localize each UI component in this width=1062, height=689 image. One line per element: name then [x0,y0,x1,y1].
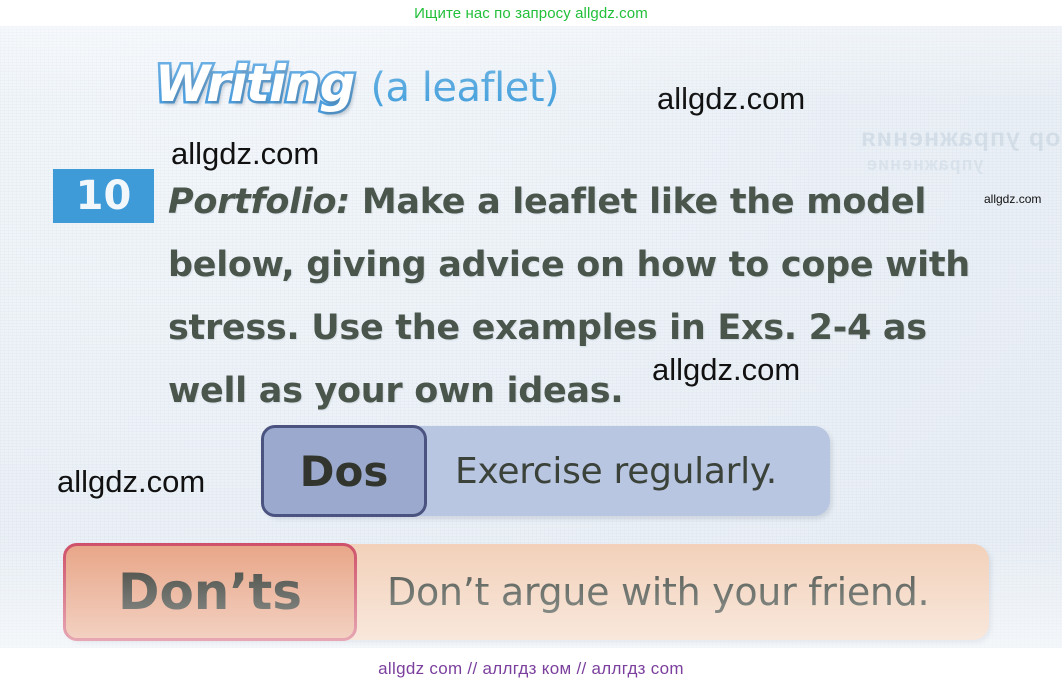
advice-bar-dos-label: Dos [261,425,427,517]
exercise-number-badge: 10 [53,169,154,223]
advice-bar-donts-text: Don’t argue with your friend. [357,544,989,640]
instruction-line-1-rest: Make a leaflet like the model [350,182,926,222]
watermark-left: allgdz.com [57,464,205,500]
watermark-upper: allgdz.com [171,136,319,172]
advice-bar-donts-label: Don’ts [63,543,357,641]
promo-banner-text: Ищите нас по запросу allgdz.com [414,5,648,22]
scanned-page-image: разбор упражнения упражнение Writing (a … [0,26,1062,648]
advice-bar-donts: Don’ts Don’t argue with your friend. [64,544,989,640]
bottom-footer-bar: allgdz com // аллгдз ком // аллгдз com [0,648,1062,689]
footer-text: allgdz com // аллгдз ком // аллгдз com [378,659,684,679]
exercise-instruction-text: Portfolio: Make a leaflet like the model… [168,171,1048,423]
instruction-emphasis-portfolio: Portfolio: [168,182,350,222]
instruction-line-2: below, giving advice on how to cope with [168,234,1048,297]
instruction-line-1: Portfolio: Make a leaflet like the model [168,171,1048,234]
heading-title-writing: Writing [155,59,354,109]
bleed-through-ghost-text-1: разбор упражнения [860,124,1062,153]
instruction-line-3: stress. Use the examples in Exs. 2-4 as [168,297,1048,360]
exercise-number-label: 10 [76,176,132,216]
watermark-top: allgdz.com [657,81,805,117]
instruction-line-4: well as your own ideas. [168,360,1048,423]
heading-subtitle-leaflet: (a leaflet) [370,68,559,108]
advice-bar-dos-text: Exercise regularly. [427,426,830,516]
section-heading: Writing (a leaflet) [155,59,559,109]
top-promo-banner: Ищите нас по запросу allgdz.com [0,0,1062,26]
advice-bar-dos: Dos Exercise regularly. [262,426,830,516]
